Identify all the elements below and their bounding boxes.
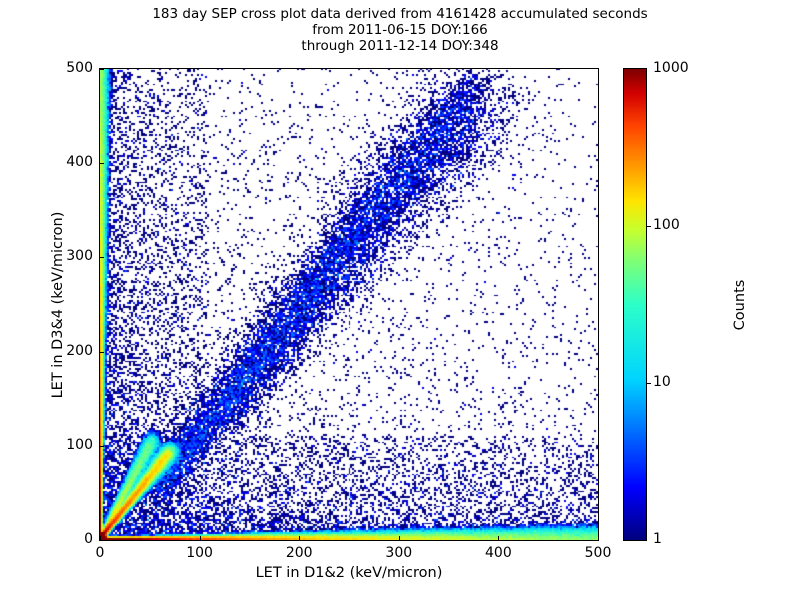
y-tick-mark [100,163,104,164]
y-tick-mark [100,257,104,258]
x-tick-label: 0 [70,545,130,561]
x-tick-mark [598,536,599,540]
x-tick-mark [200,536,201,540]
chart-title: 183 day SEP cross plot data derived from… [0,6,800,54]
x-tick-mark [399,536,400,540]
y-tick-mark [100,69,104,70]
title-line-3: through 2011-12-14 DOY:348 [0,38,800,54]
y-axis-label: LET in D3&4 (keV/micron) [50,155,66,455]
y-tick-label: 0 [45,531,93,547]
colorbar-tick-label: 1 [653,531,662,547]
density-heatmap [100,69,598,540]
title-line-1: 183 day SEP cross plot data derived from… [0,6,800,22]
y-tick-mark [100,540,104,541]
title-line-2: from 2011-06-15 DOY:166 [0,22,800,38]
colorbar-tick-label: 1000 [653,60,689,76]
x-tick-label: 300 [369,545,429,561]
x-tick-label: 200 [269,545,329,561]
y-tick-mark [100,352,104,353]
colorbar-gradient [624,69,646,540]
colorbar-label: Counts [732,155,748,455]
colorbar [623,68,647,541]
figure-canvas: 183 day SEP cross plot data derived from… [0,0,800,600]
x-axis-label: LET in D1&2 (keV/micron) [99,565,599,581]
x-tick-label: 500 [568,545,628,561]
y-tick-mark [100,446,104,447]
colorbar-tick-label: 100 [653,217,680,233]
x-tick-label: 100 [170,545,230,561]
x-tick-mark [299,536,300,540]
colorbar-tick-label: 10 [653,374,671,390]
colorbar-tick-mark [647,226,651,227]
x-tick-label: 400 [468,545,528,561]
plot-axes-frame [99,68,599,541]
y-tick-label: 500 [45,60,93,76]
colorbar-tick-mark [647,383,651,384]
x-tick-mark [498,536,499,540]
